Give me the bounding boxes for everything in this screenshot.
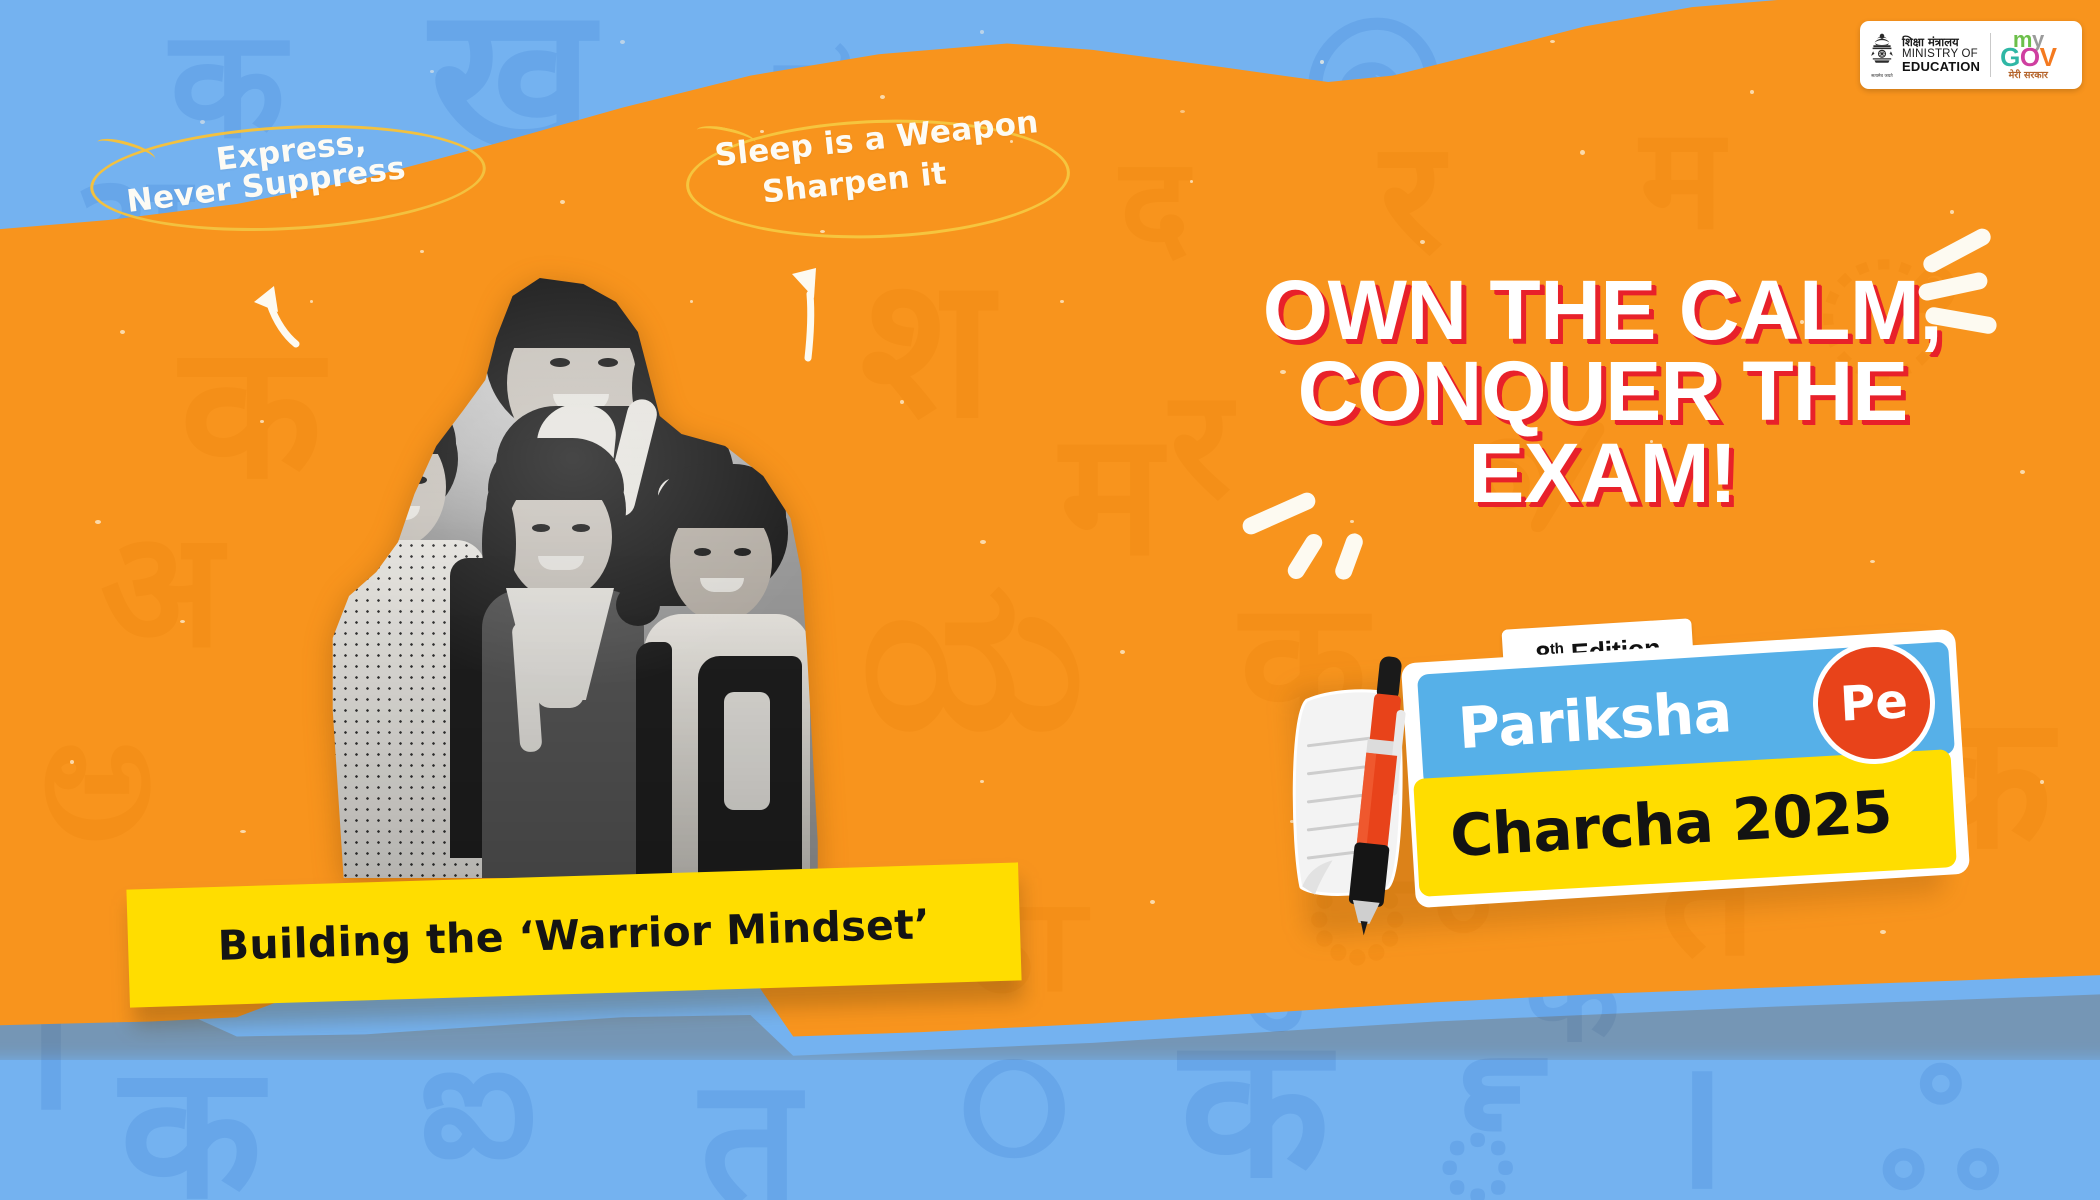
- mygov-gov-text: GOV: [2000, 46, 2056, 69]
- watermark-glyph: ಯ: [860, 550, 1085, 760]
- watermark-glyph: म: [1640, 110, 1724, 250]
- watermark-glyph: र: [1380, 120, 1443, 275]
- watermark-glyph: अ: [100, 510, 222, 670]
- logo-divider: [1990, 33, 1991, 77]
- mygov-o-letter: O: [2020, 42, 2040, 72]
- callout-express: Express, Never Suppress: [90, 120, 480, 230]
- banner-stage: क ख ವ ୸ இ र क अ ಸ क ச । क ఐ त ୦ क ్ । ஃ …: [0, 0, 2100, 1200]
- caption-text: Building the ‘Warrior Mindset’: [217, 900, 931, 970]
- ministry-line-2: EDUCATION: [1902, 60, 1980, 74]
- ministry-of-education-text: शिक्षा मंत्रालय MINISTRY OF EDUCATION: [1902, 36, 1980, 74]
- watermark-glyph: म: [1060, 410, 1162, 580]
- watermark-glyph: श: [860, 250, 993, 445]
- watermark-glyph: र: [1170, 370, 1231, 520]
- mygov-g-letter: G: [2000, 42, 2020, 72]
- student-photo-cutout: [300, 278, 845, 878]
- ashoka-emblem-icon: सत्यमेव जयते: [1867, 27, 1897, 83]
- headline-line-3: EXAM!: [1235, 433, 1970, 514]
- photo-image: [300, 278, 845, 878]
- callout-sleep: Sleep is a Weapon Sharpen it: [686, 112, 1064, 240]
- headline: OWN THE CALM, CONQUER THE EXAM!: [1235, 270, 1970, 514]
- watermark-glyph: ಅ: [40, 690, 155, 865]
- pe-badge-text: Pe: [1839, 673, 1910, 732]
- ministry-hindi-label: शिक्षा मंत्रालय: [1902, 36, 1980, 48]
- mygov-tagline: मेरी सरकार: [2000, 72, 2056, 81]
- government-logo-card[interactable]: सत्यमेव जयते शिक्षा मंत्रालय MINISTRY OF…: [1860, 21, 2082, 89]
- mygov-logo[interactable]: my GOV मेरी सरकार: [2000, 30, 2062, 81]
- pariksha-pe-charcha-logo[interactable]: 8th Edition Pariksha Charcha 2025 Pe: [1268, 624, 1958, 954]
- logo-line-2: Charcha 2025: [1448, 777, 1893, 870]
- watermark-glyph: द: [1120, 140, 1189, 270]
- logo-line-1: Pariksha: [1456, 679, 1733, 762]
- headline-line-2: CONQUER THE: [1235, 351, 1970, 432]
- mygov-v-letter: V: [2040, 42, 2057, 72]
- emblem-motto: सत्यमेव जयते: [1871, 73, 1892, 79]
- headline-line-1: OWN THE CALM,: [1235, 270, 1970, 351]
